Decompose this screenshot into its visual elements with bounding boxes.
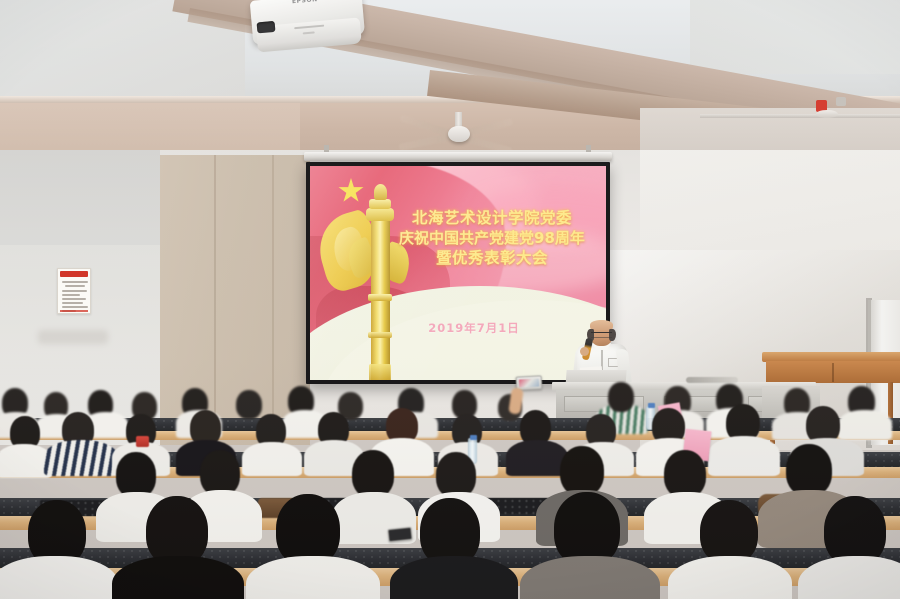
huabiao-band: [368, 294, 392, 301]
slide-title-line-3: 暨优秀表彰大会: [378, 248, 606, 268]
fan-motor-hub: [448, 126, 470, 142]
projector-lens: [257, 21, 276, 34]
wall-smudge: [38, 330, 108, 344]
notice-text-line: [62, 290, 87, 292]
notice-text-line: [62, 281, 88, 283]
wall-panel-seam: [214, 155, 216, 445]
audience-head: [236, 390, 262, 419]
mobile-phone-on-desk: [387, 527, 412, 542]
presentation-slide: 北海艺术设计学院党委 庆祝中国共产党建党98周年 暨优秀表彰大会 2019年7月…: [310, 166, 606, 380]
console-desk-items: [686, 377, 738, 383]
audience-shoulders-foreground: [390, 556, 518, 599]
slide-date-text: 2019年7月1日: [374, 320, 574, 336]
projection-screen-assembly: 北海艺术设计学院党委 庆祝中国共产党建党98周年 暨优秀表彰大会 2019年7月…: [306, 162, 610, 384]
notice-text-line: [65, 285, 85, 287]
audience-head: [560, 446, 604, 496]
bottle-cap: [470, 435, 477, 440]
slide-title-line-1: 北海艺术设计学院党委: [378, 208, 606, 228]
audience-shoulders-striped: [44, 440, 118, 476]
huabiao-base: [369, 364, 391, 380]
screen-roller-housing: [304, 152, 612, 161]
notice-text-line: [62, 302, 83, 304]
side-table-drawer-divider: [832, 363, 834, 382]
audience-shoulders: [708, 436, 780, 476]
ceiling-conduit-pipe: [700, 114, 900, 118]
audience-shoulders: [242, 442, 302, 476]
wall-notice-poster: [57, 268, 91, 314]
notice-red-header: [60, 271, 88, 277]
projection-screen-frame: 北海艺术设计学院党委 庆祝中国共产党建党98周年 暨优秀表彰大会 2019年7月…: [306, 162, 610, 384]
notice-text-line: [62, 294, 80, 296]
audience-shoulders-foreground: [112, 556, 244, 599]
speaker-glasses-icon: [591, 332, 612, 337]
slide-title-line-2: 庆祝中国共产党建党98周年: [378, 228, 606, 248]
huabiao-hou-beast: [374, 184, 387, 200]
notice-red-footer: [60, 310, 88, 312]
slide-title-text: 北海艺术设计学院党委 庆祝中国共产党建党98周年 暨优秀表彰大会: [378, 208, 606, 268]
audience-shoulders: [838, 410, 892, 440]
lecture-hall-photo: EPSON: [0, 0, 900, 599]
notice-text-line: [62, 306, 88, 308]
audience-shoulders-dark: [506, 440, 568, 476]
audience-head: [608, 382, 634, 412]
ceiling-right-soffit: [690, 0, 900, 74]
notice-text-line: [62, 298, 86, 300]
ceiling-projector: EPSON: [250, 0, 367, 59]
red-cup: [136, 436, 149, 447]
audience-head: [786, 444, 832, 496]
phone-screen: [519, 378, 539, 387]
audience-head: [352, 450, 394, 498]
audience-head: [664, 450, 706, 498]
bottle-cap: [648, 403, 655, 408]
speaker-hand-left: [580, 347, 589, 356]
audience-head-foreground: [700, 500, 758, 564]
audience-shoulders-foreground: [668, 556, 792, 599]
audience-head-foreground: [554, 492, 620, 566]
audience-shoulders-foreground: [246, 556, 380, 599]
sprinkler-dome: [816, 110, 838, 118]
wall-panel-seam: [272, 155, 274, 445]
ceiling-fixture-small: [836, 97, 846, 106]
